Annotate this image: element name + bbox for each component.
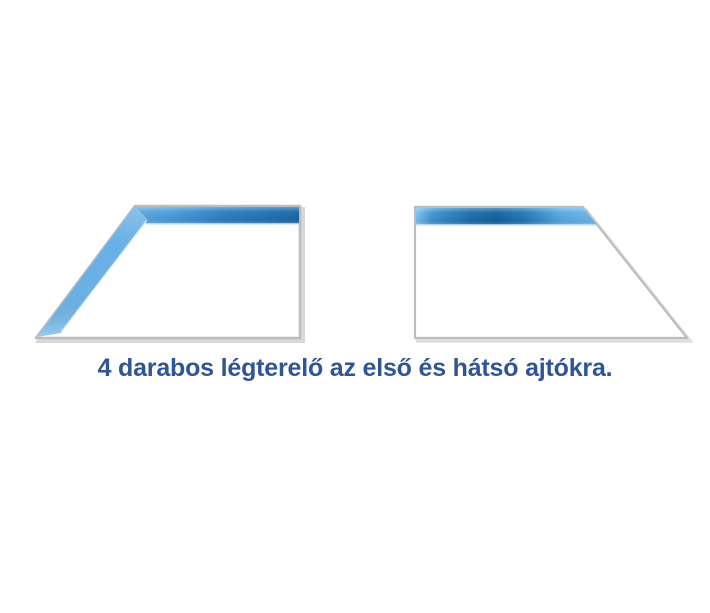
rear-deflector-outline <box>415 207 687 338</box>
wind-deflector-diagram <box>0 0 710 613</box>
diagram-canvas: 4 darabos légterelő az első és hátsó ajt… <box>0 0 710 613</box>
front-deflector-top-band-gloss <box>136 207 299 224</box>
front-door-wind-deflector <box>36 206 303 341</box>
front-deflector-outline <box>36 206 300 338</box>
caption-text: 4 darabos légterelő az első és hátsó ajt… <box>0 352 710 384</box>
rear-deflector-top-band-gloss <box>416 208 597 225</box>
rear-door-wind-deflector <box>415 207 690 341</box>
